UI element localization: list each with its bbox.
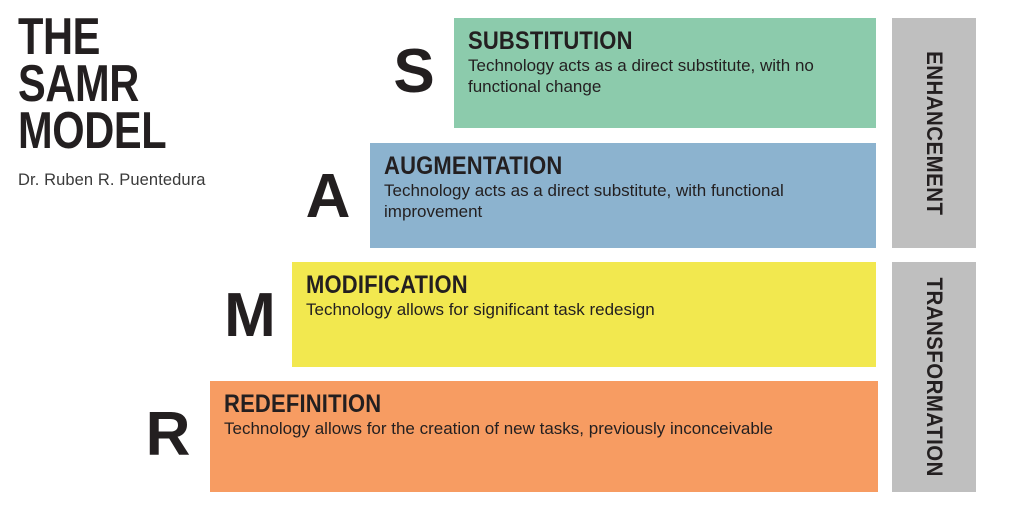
level-heading-augmentation: AUGMENTATION	[384, 153, 817, 180]
level-description-modification: Technology allows for significant task r…	[306, 299, 876, 320]
level-letter-modification: M	[218, 285, 282, 347]
category-label-transformation: TRANSFORMATION	[921, 277, 947, 476]
level-heading-redefinition: REDEFINITION	[224, 391, 800, 418]
title-line-2: SAMR	[18, 61, 282, 108]
level-heading-modification: MODIFICATION	[306, 272, 808, 299]
level-description-substitution: Technology acts as a direct substitute, …	[468, 55, 868, 97]
title-block: THE SAMR MODEL Dr. Ruben R. Puentedura	[18, 14, 348, 190]
level-letter-augmentation: A	[296, 166, 360, 228]
title-line-1: THE	[18, 14, 282, 61]
level-bar-augmentation[interactable]: AUGMENTATION Technology acts as a direct…	[370, 143, 876, 248]
level-bar-redefinition[interactable]: REDEFINITION Technology allows for the c…	[210, 381, 878, 492]
level-heading-substitution: SUBSTITUTION	[468, 28, 827, 55]
category-band-enhancement: ENHANCEMENT	[892, 18, 976, 248]
category-band-transformation: TRANSFORMATION	[892, 262, 976, 492]
level-description-augmentation: Technology acts as a direct substitute, …	[384, 180, 784, 222]
level-description-redefinition: Technology allows for the creation of ne…	[224, 418, 864, 439]
category-label-enhancement: ENHANCEMENT	[921, 51, 947, 215]
level-bar-substitution[interactable]: SUBSTITUTION Technology acts as a direct…	[454, 18, 876, 128]
level-bar-modification[interactable]: MODIFICATION Technology allows for signi…	[292, 262, 876, 367]
title-line-3: MODEL	[18, 108, 282, 155]
level-letter-redefinition: R	[136, 404, 200, 466]
level-letter-substitution: S	[382, 41, 446, 103]
